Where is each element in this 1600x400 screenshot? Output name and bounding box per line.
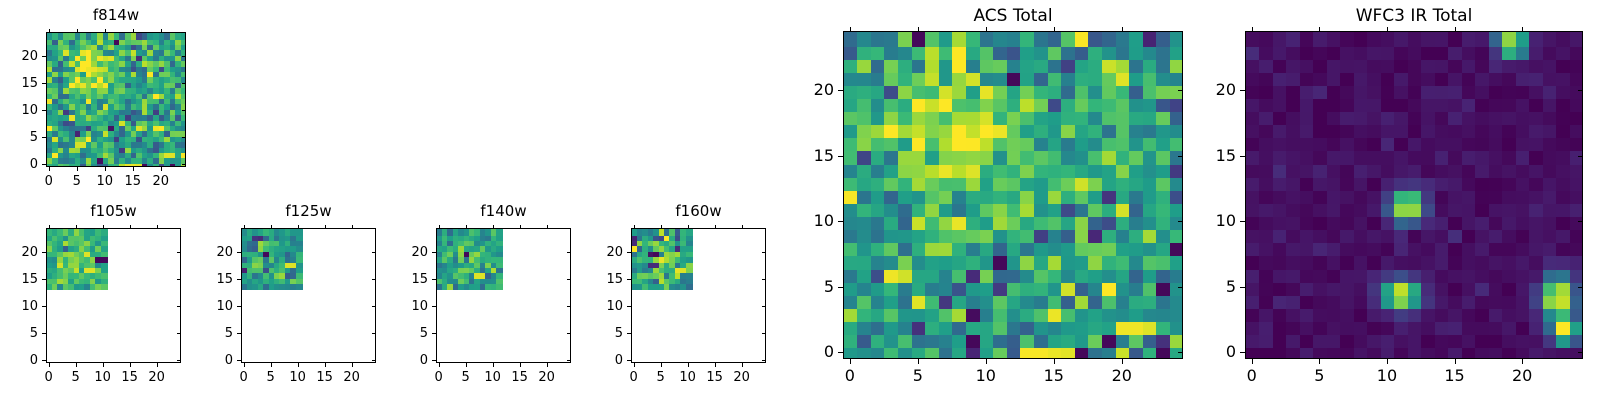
heatmap-image-f105w [47,229,181,363]
right-tick-f105w-2 [177,306,181,307]
right-tick-f140w-2 [567,306,571,307]
xtick-label-f140w-3: 15 [495,369,545,386]
ytick-label-wfc3_ir_total-2: 10 [1176,211,1236,231]
heatmap-image-f125w [242,229,376,363]
xtick-label-f814w-2: 10 [80,173,130,190]
ytick-label-acs_total-0: 0 [774,342,834,362]
ytick-f160w-4 [627,252,631,253]
top-tick-f140w-1 [466,225,467,229]
top-tick-wfc3_ir_total-3 [1455,27,1456,32]
heatmap-image-wfc3_ir_total [1246,32,1583,359]
right-tick-f125w-3 [372,279,376,280]
xtick-label-f140w-1: 5 [441,369,491,386]
xtick-f160w-0 [634,363,635,367]
ytick-label-f125w-1: 5 [173,325,233,342]
ytick-label-f125w-0: 0 [173,352,233,369]
ytick-label-f160w-4: 20 [563,244,623,261]
top-tick-f814w-0 [49,29,50,33]
right-tick-f140w-1 [567,333,571,334]
ytick-acs_total-1 [838,287,843,288]
ytick-acs_total-3 [838,156,843,157]
ytick-label-f160w-0: 0 [563,352,623,369]
panel-acs_total: ACS Total0510152005101520 [0,0,1600,400]
xtick-f140w-0 [439,363,440,367]
xtick-f814w-0 [49,167,50,171]
xtick-acs_total-2 [986,359,987,364]
xtick-label-f160w-1: 5 [636,369,686,386]
ytick-label-f125w-2: 10 [173,298,233,315]
heatmap-image-f814w [47,33,186,167]
ytick-label-wfc3_ir_total-4: 20 [1176,80,1236,100]
right-tick-f125w-0 [372,360,376,361]
ytick-label-f814w-0: 0 [0,156,38,173]
ytick-f814w-4 [42,56,46,57]
xtick-f105w-3 [130,363,131,367]
ytick-label-f105w-3: 15 [0,271,38,288]
top-tick-f125w-3 [325,225,326,229]
xtick-f160w-1 [661,363,662,367]
panel-title-f140w: f140w [436,200,571,222]
ytick-label-f814w-4: 20 [0,48,38,65]
xtick-label-f105w-1: 5 [51,369,101,386]
top-tick-acs_total-4 [1122,27,1123,32]
right-tick-f140w-0 [567,360,571,361]
ytick-label-f140w-3: 15 [368,271,428,288]
ytick-label-wfc3_ir_total-0: 0 [1176,342,1236,362]
right-tick-f160w-2 [762,306,766,307]
panel-title-f814w: f814w [46,4,186,26]
ytick-label-f814w-1: 5 [0,129,38,146]
ytick-label-f140w-4: 20 [368,244,428,261]
xtick-label-wfc3_ir_total-2: 10 [1362,366,1412,386]
ytick-label-f125w-4: 20 [173,244,233,261]
xtick-label-f814w-1: 5 [52,173,102,190]
top-tick-f105w-0 [49,225,50,229]
top-tick-f125w-0 [244,225,245,229]
ytick-acs_total-2 [838,221,843,222]
xtick-acs_total-1 [918,359,919,364]
xtick-label-wfc3_ir_total-0: 0 [1227,366,1277,386]
xtick-f125w-0 [244,363,245,367]
xtick-label-f814w-3: 15 [108,173,158,190]
right-tick-f814w-1 [182,137,186,138]
top-tick-acs_total-2 [986,27,987,32]
ytick-f160w-0 [627,360,631,361]
ytick-f140w-4 [432,252,436,253]
top-tick-f160w-4 [742,225,743,229]
xtick-label-f105w-2: 10 [78,369,128,386]
xtick-label-acs_total-3: 15 [1029,366,1079,386]
ytick-acs_total-0 [838,352,843,353]
ytick-f125w-4 [237,252,241,253]
ytick-label-f160w-1: 5 [563,325,623,342]
ytick-wfc3_ir_total-4 [1240,90,1245,91]
ytick-f125w-1 [237,333,241,334]
xtick-acs_total-3 [1054,359,1055,364]
ytick-label-acs_total-1: 5 [774,277,834,297]
xtick-label-f814w-4: 20 [136,173,186,190]
ytick-wfc3_ir_total-1 [1240,287,1245,288]
right-tick-wfc3_ir_total-2 [1578,221,1583,222]
right-tick-f160w-0 [762,360,766,361]
top-tick-f814w-2 [105,29,106,33]
xtick-wfc3_ir_total-3 [1455,359,1456,364]
panel-f140w: f140w0510152005101520 [0,0,1600,400]
top-tick-f140w-0 [439,225,440,229]
top-tick-wfc3_ir_total-0 [1252,27,1253,32]
xtick-label-f125w-4: 20 [327,369,377,386]
panel-f160w: f160w0510152005101520 [0,0,1600,400]
ytick-label-acs_total-3: 15 [774,146,834,166]
ytick-label-f105w-0: 0 [0,352,38,369]
xtick-label-wfc3_ir_total-1: 5 [1294,366,1344,386]
axes-f125w [241,228,376,363]
ytick-f140w-1 [432,333,436,334]
top-tick-f160w-3 [715,225,716,229]
panel-f105w: f105w0510152005101520 [0,0,1600,400]
right-tick-f125w-4 [372,252,376,253]
ytick-label-f140w-0: 0 [368,352,428,369]
right-tick-f105w-4 [177,252,181,253]
right-tick-f140w-4 [567,252,571,253]
xtick-label-f125w-1: 5 [246,369,296,386]
axes-acs_total [843,31,1183,359]
xtick-label-acs_total-2: 10 [961,366,1011,386]
xtick-label-acs_total-0: 0 [825,366,875,386]
xtick-f160w-4 [742,363,743,367]
xtick-f105w-1 [76,363,77,367]
xtick-label-f160w-2: 10 [663,369,713,386]
xtick-wfc3_ir_total-0 [1252,359,1253,364]
top-tick-wfc3_ir_total-2 [1387,27,1388,32]
xtick-label-f160w-3: 15 [690,369,740,386]
ytick-f160w-2 [627,306,631,307]
ytick-f814w-1 [42,137,46,138]
right-tick-acs_total-2 [1178,221,1183,222]
xtick-wfc3_ir_total-4 [1522,359,1523,364]
xtick-f105w-2 [103,363,104,367]
right-tick-acs_total-4 [1178,90,1183,91]
ytick-label-f140w-2: 10 [368,298,428,315]
xtick-f125w-3 [325,363,326,367]
ytick-label-acs_total-4: 20 [774,80,834,100]
axes-f160w [631,228,766,363]
xtick-wfc3_ir_total-1 [1319,359,1320,364]
top-tick-f105w-3 [130,225,131,229]
panel-wfc3_ir_total: WFC3 IR Total0510152005101520 [0,0,1600,400]
ytick-f105w-3 [42,279,46,280]
right-tick-wfc3_ir_total-4 [1578,90,1583,91]
axes-f814w [46,32,186,167]
panel-f814w: f814w0510152005101520 [0,0,1600,400]
xtick-f140w-3 [520,363,521,367]
top-tick-f125w-4 [352,225,353,229]
ytick-label-f125w-3: 15 [173,271,233,288]
right-tick-f105w-3 [177,279,181,280]
xtick-label-f125w-2: 10 [273,369,323,386]
right-tick-f160w-1 [762,333,766,334]
ytick-label-wfc3_ir_total-1: 5 [1176,277,1236,297]
panel-title-f105w: f105w [46,200,181,222]
ytick-f140w-3 [432,279,436,280]
right-tick-f105w-0 [177,360,181,361]
xtick-f814w-3 [133,167,134,171]
ytick-f125w-2 [237,306,241,307]
ytick-f160w-3 [627,279,631,280]
xtick-f140w-2 [493,363,494,367]
top-tick-f140w-2 [493,225,494,229]
heatmap-image-f140w [437,229,571,363]
xtick-f814w-4 [161,167,162,171]
ytick-f140w-0 [432,360,436,361]
top-tick-f125w-1 [271,225,272,229]
ytick-acs_total-4 [838,90,843,91]
top-tick-f125w-2 [298,225,299,229]
right-tick-acs_total-0 [1178,352,1183,353]
ytick-wfc3_ir_total-2 [1240,221,1245,222]
heatmap-image-f160w [632,229,766,363]
xtick-f105w-0 [49,363,50,367]
panel-title-acs_total: ACS Total [843,4,1183,28]
top-tick-f160w-0 [634,225,635,229]
right-tick-f814w-2 [182,110,186,111]
right-tick-f125w-1 [372,333,376,334]
right-tick-f814w-3 [182,83,186,84]
xtick-label-wfc3_ir_total-4: 20 [1497,366,1547,386]
axes-f105w [46,228,181,363]
xtick-label-f125w-0: 0 [219,369,269,386]
panel-f125w: f125w0510152005101520 [0,0,1600,400]
ytick-f105w-1 [42,333,46,334]
xtick-label-wfc3_ir_total-3: 15 [1430,366,1480,386]
top-tick-f814w-4 [161,29,162,33]
ytick-wfc3_ir_total-0 [1240,352,1245,353]
heatmap-image-acs_total [844,32,1183,359]
top-tick-f105w-1 [76,225,77,229]
figure-canvas-root: f814w0510152005101520f105w05101520051015… [0,0,1600,400]
top-tick-acs_total-3 [1054,27,1055,32]
right-tick-f814w-0 [182,164,186,165]
right-tick-acs_total-3 [1178,156,1183,157]
xtick-f160w-2 [688,363,689,367]
xtick-label-acs_total-4: 20 [1097,366,1147,386]
ytick-label-f105w-2: 10 [0,298,38,315]
xtick-f814w-1 [77,167,78,171]
ytick-f814w-2 [42,110,46,111]
right-tick-f160w-4 [762,252,766,253]
xtick-wfc3_ir_total-2 [1387,359,1388,364]
top-tick-acs_total-1 [918,27,919,32]
top-tick-f160w-1 [661,225,662,229]
ytick-f125w-0 [237,360,241,361]
ytick-f814w-3 [42,83,46,84]
ytick-f105w-0 [42,360,46,361]
xtick-f140w-4 [547,363,548,367]
top-tick-f105w-4 [157,225,158,229]
xtick-acs_total-4 [1122,359,1123,364]
ytick-f160w-1 [627,333,631,334]
ytick-f125w-3 [237,279,241,280]
ytick-label-f105w-4: 20 [0,244,38,261]
xtick-label-f160w-4: 20 [717,369,767,386]
xtick-label-f140w-0: 0 [414,369,464,386]
xtick-label-f125w-3: 15 [300,369,350,386]
right-tick-f160w-3 [762,279,766,280]
xtick-label-f105w-0: 0 [24,369,74,386]
right-tick-wfc3_ir_total-3 [1578,156,1583,157]
right-tick-acs_total-1 [1178,287,1183,288]
xtick-label-f140w-2: 10 [468,369,518,386]
panel-title-wfc3_ir_total: WFC3 IR Total [1245,4,1583,28]
xtick-label-acs_total-1: 5 [893,366,943,386]
xtick-acs_total-0 [850,359,851,364]
top-tick-f814w-1 [77,29,78,33]
ytick-label-acs_total-2: 10 [774,211,834,231]
xtick-label-f160w-0: 0 [609,369,659,386]
ytick-label-f140w-1: 5 [368,325,428,342]
xtick-label-f814w-0: 0 [24,173,74,190]
top-tick-f160w-2 [688,225,689,229]
ytick-label-f814w-2: 10 [0,102,38,119]
right-tick-f814w-4 [182,56,186,57]
xtick-f140w-1 [466,363,467,367]
ytick-label-f105w-1: 5 [0,325,38,342]
ytick-label-f160w-3: 15 [563,271,623,288]
ytick-f140w-2 [432,306,436,307]
xtick-label-f105w-4: 20 [132,369,182,386]
top-tick-f140w-4 [547,225,548,229]
xtick-f125w-1 [271,363,272,367]
ytick-label-f160w-2: 10 [563,298,623,315]
xtick-f125w-4 [352,363,353,367]
axes-f140w [436,228,571,363]
top-tick-wfc3_ir_total-4 [1522,27,1523,32]
top-tick-f814w-3 [133,29,134,33]
panel-title-f160w: f160w [631,200,766,222]
right-tick-f125w-2 [372,306,376,307]
right-tick-wfc3_ir_total-0 [1578,352,1583,353]
right-tick-f105w-1 [177,333,181,334]
top-tick-f140w-3 [520,225,521,229]
axes-wfc3_ir_total [1245,31,1583,359]
xtick-label-f105w-3: 15 [105,369,155,386]
xtick-f160w-3 [715,363,716,367]
panel-title-f125w: f125w [241,200,376,222]
xtick-label-f140w-4: 20 [522,369,572,386]
xtick-f814w-2 [105,167,106,171]
top-tick-wfc3_ir_total-1 [1319,27,1320,32]
right-tick-wfc3_ir_total-1 [1578,287,1583,288]
ytick-wfc3_ir_total-3 [1240,156,1245,157]
ytick-label-f814w-3: 15 [0,75,38,92]
ytick-f105w-2 [42,306,46,307]
ytick-f105w-4 [42,252,46,253]
top-tick-acs_total-0 [850,27,851,32]
top-tick-f105w-2 [103,225,104,229]
right-tick-f140w-3 [567,279,571,280]
ytick-label-wfc3_ir_total-3: 15 [1176,146,1236,166]
xtick-f125w-2 [298,363,299,367]
xtick-f105w-4 [157,363,158,367]
ytick-f814w-0 [42,164,46,165]
